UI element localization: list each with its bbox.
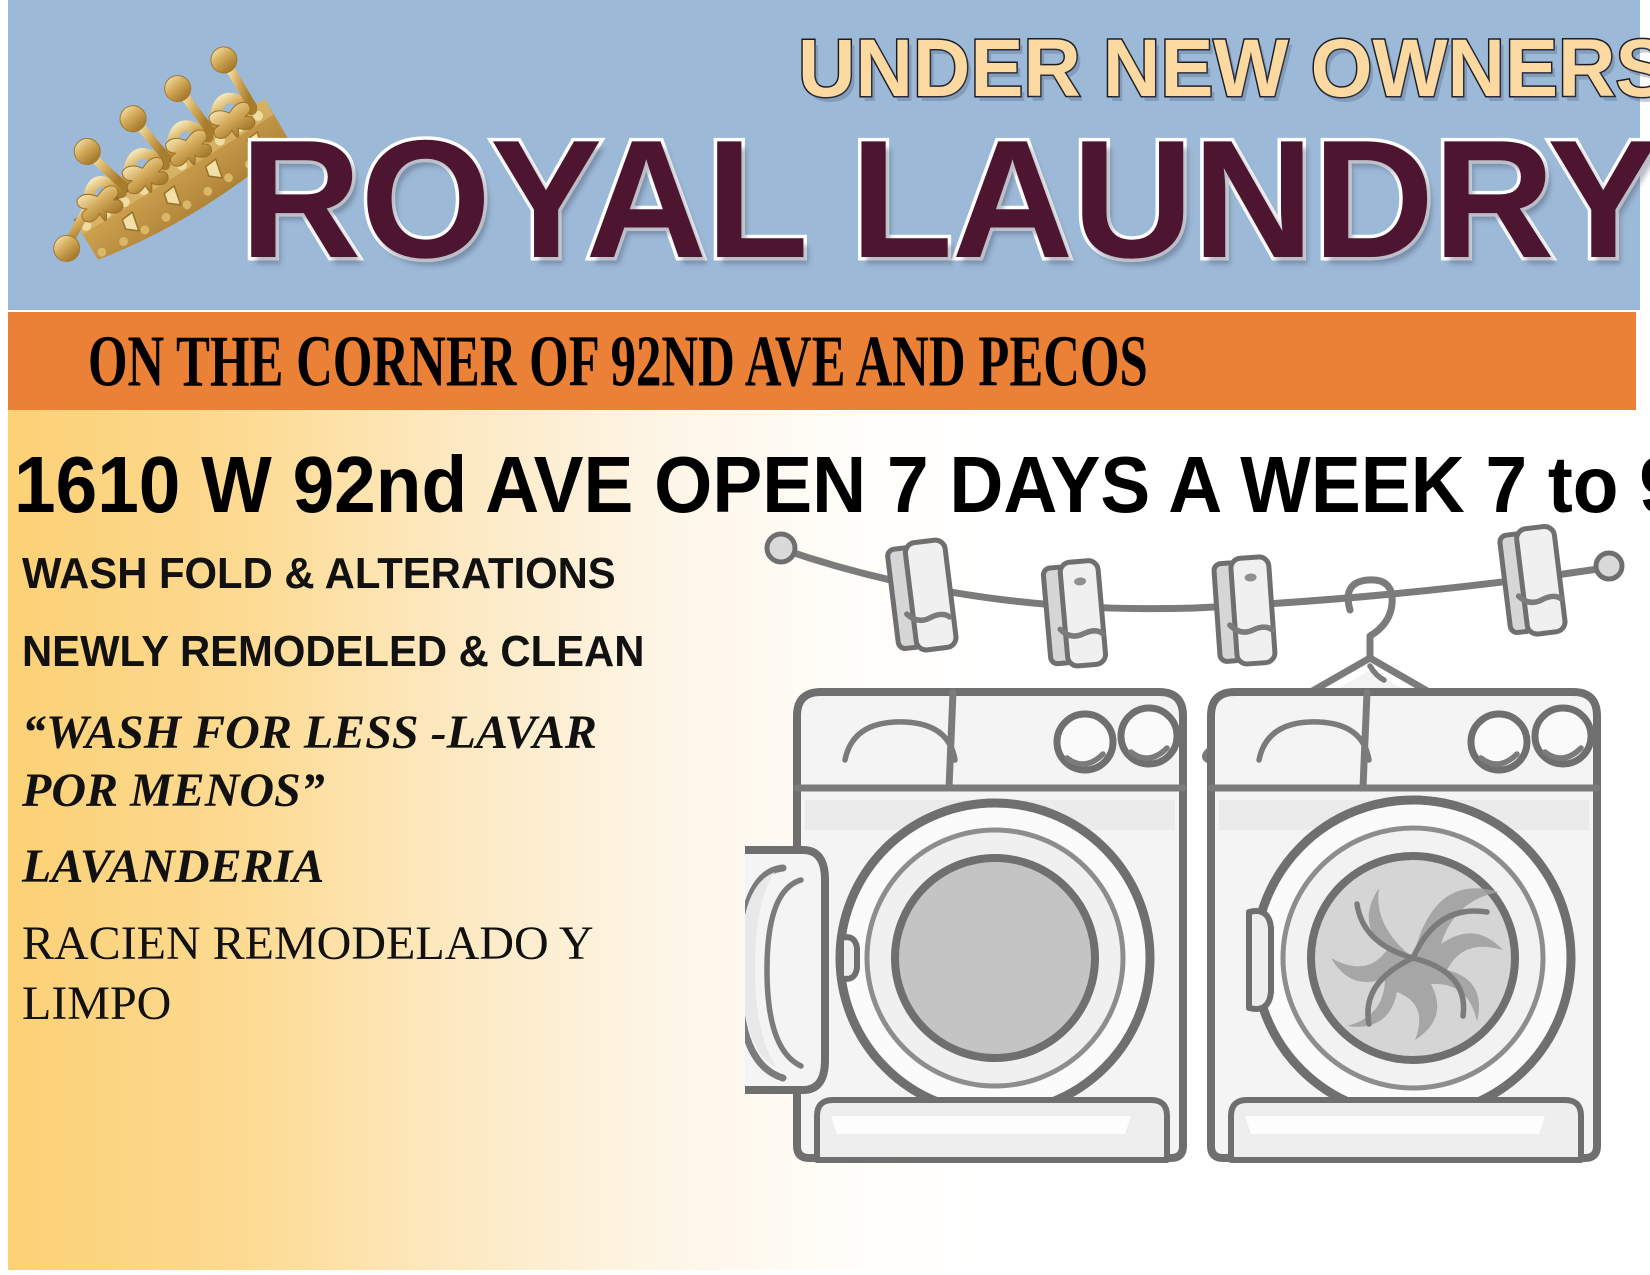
service-item: WASH FOLD & ALTERATIONS [22,548,697,600]
address-and-hours-line: 1610 W 92nd AVE OPEN 7 DAYS A WEEK 7 to … [14,442,1650,528]
services-list: WASH FOLD & ALTERATIONS NEWLY REMODELED … [22,548,732,1060]
header-banner: UNDER NEW OWNERSHIP ROYAL LAUNDRY [8,0,1640,310]
washing-machine-closed-door [1211,692,1597,1160]
location-text: ON THE CORNER OF 92ND AVE AND PECOS [88,320,1148,405]
service-item: NEWLY REMODELED & CLEAN [22,626,697,678]
service-item: LAVANDERIA [22,838,732,896]
service-item: RACIEN REMODELADO Y LIMPO [22,914,732,1034]
service-item: “WASH FOR LESS -LAVAR POR MENOS” [22,704,732,820]
washing-machine-open-door [745,692,1183,1160]
laundry-illustration: .ln{fill:none;stroke:#7b7b7b;stroke-widt… [745,520,1650,1220]
clothesline-group [767,525,1622,668]
business-name-title: ROYAL LAUNDRY [240,110,1640,295]
